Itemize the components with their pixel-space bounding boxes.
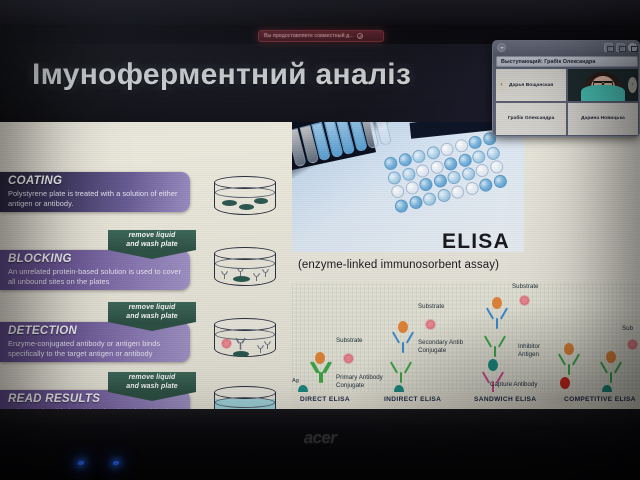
arrow-wash-1-line1: remove liquid	[129, 232, 176, 239]
vessel-blocking	[214, 247, 276, 291]
substrate-star-icon	[222, 339, 231, 348]
participant-grid: Дарья Вощанская ‹ › Грабік Олександра Да…	[496, 69, 638, 135]
microplate-wells-grid	[383, 131, 508, 214]
label-substrate-2: Substrate	[418, 303, 444, 311]
arrow-wash-3-text: remove liquid and wash plate	[108, 372, 196, 392]
step-coating: COATING Polystyrene plate is treated wit…	[0, 172, 190, 212]
plate-well	[446, 170, 462, 186]
antibody-arm	[498, 335, 506, 347]
active-speaker-bar: Выступающий: Грабік Олександра	[496, 56, 638, 67]
plate-well	[471, 149, 487, 165]
minimize-icon[interactable]	[616, 43, 625, 52]
vessel-coating	[214, 176, 276, 220]
antigen-blob	[222, 200, 237, 206]
participant-name: Грабік Олександра	[508, 116, 554, 121]
plate-well	[415, 163, 431, 179]
plate-well	[432, 173, 448, 189]
layout-icon[interactable]	[628, 43, 637, 52]
antibody-arm	[572, 353, 580, 365]
plate-well	[422, 191, 438, 207]
video-panel-window-controls	[604, 43, 637, 52]
arrow-wash-2: remove liquid and wash plate	[108, 302, 196, 331]
screen-share-banner[interactable]: Вы предоставляете совместный д...	[258, 30, 384, 42]
enzyme-knob	[315, 352, 325, 364]
step-blocking-body: An unrelated protein-based solution is u…	[8, 267, 183, 286]
secondary-antibody-conjugate	[392, 323, 414, 357]
label-primary-conjugate-2: Conjugate	[336, 382, 364, 390]
plate-well	[393, 198, 409, 214]
label-secondary-conjugate-2: Conjugate	[418, 347, 446, 355]
antibody-stem	[402, 342, 404, 353]
vessel-coating-liquid-line	[215, 187, 275, 198]
antibody-arm	[482, 371, 490, 383]
plate-well	[400, 166, 416, 182]
screen-share-banner-label: Вы предоставляете совместный д...	[264, 33, 354, 39]
arrow-wash-1-tip	[108, 250, 196, 259]
antibody-arm	[500, 307, 508, 319]
assay-type-row: DIRECT ELISA INDIRECT ELISA SANDWICH ELI…	[292, 392, 640, 409]
assay-type-competitive: COMPETITIVE ELISA	[564, 396, 636, 403]
label-substrate-4: Sub	[622, 325, 633, 333]
vessel-detection	[214, 318, 276, 362]
plate-well	[418, 177, 434, 193]
arrow-wash-3: remove liquid and wash plate	[108, 372, 196, 401]
participant-tile-video[interactable]: ›	[568, 69, 638, 101]
enzyme-knob	[564, 343, 574, 355]
arrow-wash-3-line1: remove liquid	[129, 374, 176, 381]
participant-name: Дарья Вощанская	[509, 83, 553, 88]
plate-well	[453, 138, 469, 154]
plate-well	[429, 159, 445, 175]
enzyme-knob	[398, 321, 408, 333]
elisa-heading: ELISA	[442, 230, 510, 254]
antibody-stem	[496, 318, 498, 329]
substrate-star-icon	[426, 320, 435, 329]
plate-well	[488, 159, 504, 175]
label-inhibitor-2: Antigen	[518, 351, 539, 359]
participant-tile[interactable]: Грабік Олександра	[496, 103, 566, 135]
plate-well	[386, 170, 402, 186]
elisa-mechanism-diagram: Ag Substrate Primary Antibody Conjugate	[292, 282, 640, 409]
competitive-antibody-2	[600, 353, 622, 387]
participant-name: Дарина Новицька	[581, 116, 625, 121]
assay-type-sandwich: SANDWICH ELISA	[474, 396, 536, 403]
vessel-read-results-liquid-line	[215, 397, 275, 408]
substrate-star-icon	[344, 354, 353, 363]
primary-antibody-conjugate	[310, 353, 332, 387]
antibody-arm	[406, 331, 414, 343]
label-substrate-1: Substrate	[336, 337, 362, 345]
plate-well	[478, 177, 494, 193]
participant-tile[interactable]: Дарина Новицька	[568, 103, 638, 135]
antibody-stem	[400, 372, 402, 383]
sandwich-secondary-conjugate	[486, 299, 508, 333]
blocking-protein-icon	[261, 269, 270, 278]
label-inhibitor-1: Inhibitor	[518, 343, 540, 351]
next-participants-button[interactable]: ›	[628, 77, 637, 93]
plate-well	[425, 145, 441, 161]
arrow-wash-2-line1: remove liquid	[129, 304, 176, 311]
assay-type-direct: DIRECT ELISA	[300, 396, 350, 403]
indirect-primary-antibody	[390, 353, 412, 387]
blocking-protein-icon	[263, 341, 272, 350]
conjugated-antibody-icon	[234, 338, 248, 352]
label-secondary-conjugate-1: Secondary Antib	[418, 339, 463, 347]
plate-well	[404, 180, 420, 196]
antibody-arm	[486, 307, 494, 319]
blocking-protein-icon	[220, 271, 229, 280]
antibody-arm	[614, 361, 622, 373]
antibody-stem	[568, 364, 570, 375]
plate-well	[383, 156, 399, 172]
plate-well	[450, 184, 466, 200]
popout-icon[interactable]	[604, 43, 613, 52]
arrow-wash-3-tip	[108, 392, 196, 401]
label-substrate-3: Substrate	[512, 283, 538, 291]
antibody-stem	[321, 372, 323, 383]
vessel-blocking-liquid-line	[215, 258, 275, 269]
prev-participants-button[interactable]: ‹	[497, 77, 506, 93]
substrate-star-icon	[520, 296, 529, 305]
arrow-wash-1-line2: and wash plate	[126, 241, 178, 248]
stop-share-icon[interactable]	[357, 33, 363, 39]
antibody-arm	[558, 353, 566, 365]
elisa-process-column: COATING Polystyrene plate is treated wit…	[0, 122, 196, 409]
elisa-subtitle: (enzyme-linked immunosorbent assay)	[298, 259, 640, 271]
plate-well	[492, 173, 508, 189]
plate-well	[436, 187, 452, 203]
bezel-sheen	[0, 0, 640, 22]
plate-well	[457, 152, 473, 168]
label-primary-conjugate-1: Primary Antibody	[336, 374, 383, 382]
enzyme-knob	[606, 351, 616, 363]
elisa-right-panel: ELISA (enzyme-linked immunosorbent assay…	[292, 122, 640, 409]
antibody-arm	[404, 361, 412, 373]
collapse-chevron-icon[interactable]	[497, 43, 506, 52]
antibody-arm	[484, 335, 492, 347]
blocking-protein-icon	[236, 268, 245, 277]
arrow-wash-3-line2: and wash plate	[126, 383, 178, 390]
step-coating-body: Polystyrene plate is treated with a solu…	[8, 189, 183, 208]
arrow-wash-2-text: remove liquid and wash plate	[108, 302, 196, 322]
slide-title: Імуноферментний аналіз	[32, 58, 411, 92]
enzyme-knob	[492, 297, 502, 309]
arrow-wash-2-line2: and wash plate	[126, 313, 178, 320]
acer-logo: acer	[0, 428, 640, 448]
microplate-strip	[292, 122, 392, 167]
antigen-blob	[254, 198, 268, 204]
plate-well	[411, 149, 427, 165]
vessel-read-results	[214, 386, 276, 409]
antibody-stem	[494, 346, 496, 357]
competitive-antibody-1	[558, 345, 580, 379]
plate-well	[464, 180, 480, 196]
arrow-wash-1-text: remove liquid and wash plate	[108, 230, 196, 250]
plate-well	[390, 184, 406, 200]
participant-tile[interactable]: Дарья Вощанская ‹	[496, 69, 566, 101]
substrate-star-icon	[628, 340, 637, 349]
label-capture-antibody: Capture Antibody	[490, 381, 537, 389]
plate-well	[439, 142, 455, 158]
arrow-wash-2-tip	[108, 322, 196, 331]
plate-well	[460, 166, 476, 182]
arrow-wash-1: remove liquid and wash plate	[108, 230, 196, 259]
plate-well	[397, 152, 413, 168]
step-coating-title: COATING	[8, 175, 183, 188]
vessel-illustrations	[196, 122, 292, 409]
avatar-body	[581, 85, 625, 101]
antibody-stem	[610, 372, 612, 383]
antigen-blob	[239, 204, 254, 210]
step-detection-body: Enzyme-conjugated antibody or antigen bi…	[8, 339, 183, 358]
antibody-arm	[392, 331, 400, 343]
plate-well	[443, 156, 459, 172]
antigen-blob	[233, 351, 249, 357]
antibody-arm	[600, 361, 608, 373]
plate-well	[474, 163, 490, 179]
video-conference-panel[interactable]: Выступающий: Грабік Олександра Дарья Вощ…	[492, 40, 640, 137]
laptop-screen-photo: Вы предоставляете совместный д... Імуноф…	[0, 0, 640, 480]
assay-type-indirect: INDIRECT ELISA	[384, 396, 441, 403]
active-speaker-label: Выступающий: Грабік Олександра	[501, 59, 595, 65]
plate-well	[407, 194, 423, 210]
label-ag: Ag	[292, 378, 299, 385]
plate-well	[485, 145, 501, 161]
plate-well	[467, 134, 483, 150]
blocking-protein-icon	[252, 273, 261, 282]
video-panel-titlebar[interactable]	[493, 41, 640, 54]
antibody-arm	[390, 361, 398, 373]
